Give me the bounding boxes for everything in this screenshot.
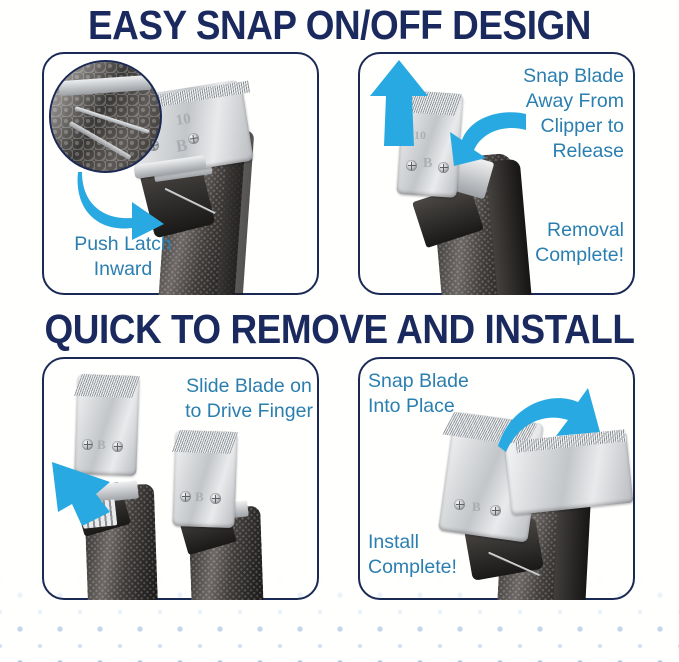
caption-install-complete: Install Complete! xyxy=(368,530,518,580)
infographic-page: EASY SNAP ON/OFF DESIGN 10 B Push Latch … xyxy=(0,0,679,662)
blade-logo-left: B xyxy=(97,437,106,453)
page-title-middle: QUICK TO REMOVE AND INSTALL xyxy=(34,306,645,353)
push-latch-curved-arrow-icon xyxy=(72,162,168,240)
latch-zoom-inset xyxy=(49,60,162,173)
caption-snap-into-place: Snap Blade Into Place xyxy=(368,369,518,419)
snap-away-up-arrow-icon xyxy=(370,60,428,146)
blade-logo-marking: B xyxy=(423,156,432,172)
caption-slide-blade: Slide Blade on to Drive Finger xyxy=(180,374,318,424)
blade-screw-right-2 xyxy=(210,493,221,504)
blade-screw-right-1 xyxy=(180,491,191,502)
page-title-top: EASY SNAP ON/OFF DESIGN xyxy=(34,2,645,49)
caption-removal-complete: Removal Complete! xyxy=(452,218,624,268)
blade-screw-left-2 xyxy=(112,441,123,452)
snap-away-curved-left-arrow-icon xyxy=(448,108,526,172)
blade-logo-right: B xyxy=(195,489,204,505)
slide-blade-down-arrow-icon xyxy=(48,460,114,528)
blade-screw-left xyxy=(406,160,417,171)
blade-screw-left xyxy=(454,499,465,510)
blade-teeth-left xyxy=(74,374,140,398)
blade-logo-marking: B xyxy=(472,499,481,515)
blade-screw-right xyxy=(490,505,501,516)
blade-teeth-right xyxy=(172,430,238,454)
snap-into-place-curved-right-arrow-icon xyxy=(498,388,600,460)
blade-screw-left-1 xyxy=(82,439,93,450)
blade-size-marking: 10 xyxy=(175,111,192,130)
